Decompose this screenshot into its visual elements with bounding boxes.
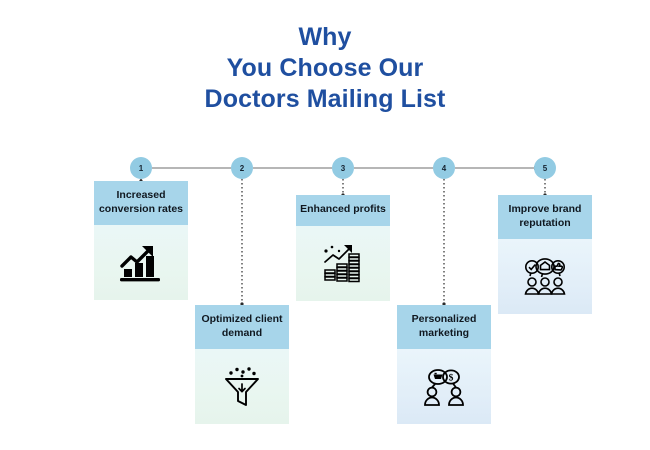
title-line-2: You Choose Our <box>0 53 650 84</box>
funnel-icon <box>222 365 262 409</box>
title-line-3: Doctors Mailing List <box>0 84 650 115</box>
benefit-card-2-title: Optimized client demand <box>195 305 289 349</box>
timeline-node-1[interactable]: 1 <box>130 157 152 179</box>
benefit-card-5-title: Improve brand reputation <box>498 195 592 239</box>
title-line-1: Why <box>0 22 650 53</box>
benefit-card-3[interactable]: Enhanced profits <box>296 195 390 301</box>
svg-text:$: $ <box>449 372 454 383</box>
page-title: Why You Choose Our Doctors Mailing List <box>0 22 650 115</box>
coin-stacks-growth-icon <box>320 242 366 284</box>
timeline-node-3[interactable]: 3 <box>332 157 354 179</box>
growth-bar-chart-icon <box>118 242 164 284</box>
timeline-node-5[interactable]: 5 <box>534 157 556 179</box>
timeline-node-2[interactable]: 2 <box>231 157 253 179</box>
timeline-node-2-number: 2 <box>240 164 244 173</box>
two-people-chat-icon: $ <box>419 367 469 407</box>
benefit-card-1-title: Increased conversion rates <box>94 181 188 225</box>
benefit-card-4-title: Personalized marketing <box>397 305 491 349</box>
benefit-card-4-body: $ <box>397 349 491 424</box>
benefit-card-2[interactable]: Optimized client demand <box>195 305 289 424</box>
benefit-card-2-body <box>195 349 289 424</box>
group-reviews-icon <box>520 257 570 297</box>
benefit-card-1[interactable]: Increased conversion rates <box>94 181 188 300</box>
timeline-node-1-number: 1 <box>139 164 143 173</box>
benefit-card-3-title: Enhanced profits <box>296 195 390 226</box>
benefit-card-5[interactable]: Improve brand reputation <box>498 195 592 314</box>
timeline-node-4[interactable]: 4 <box>433 157 455 179</box>
benefit-card-5-body <box>498 239 592 314</box>
benefit-card-1-body <box>94 225 188 300</box>
benefit-card-4[interactable]: Personalized marketing $ <box>397 305 491 424</box>
timeline-node-5-number: 5 <box>543 164 547 173</box>
timeline-node-3-number: 3 <box>341 164 345 173</box>
benefit-card-3-body <box>296 226 390 301</box>
timeline-node-4-number: 4 <box>442 164 446 173</box>
